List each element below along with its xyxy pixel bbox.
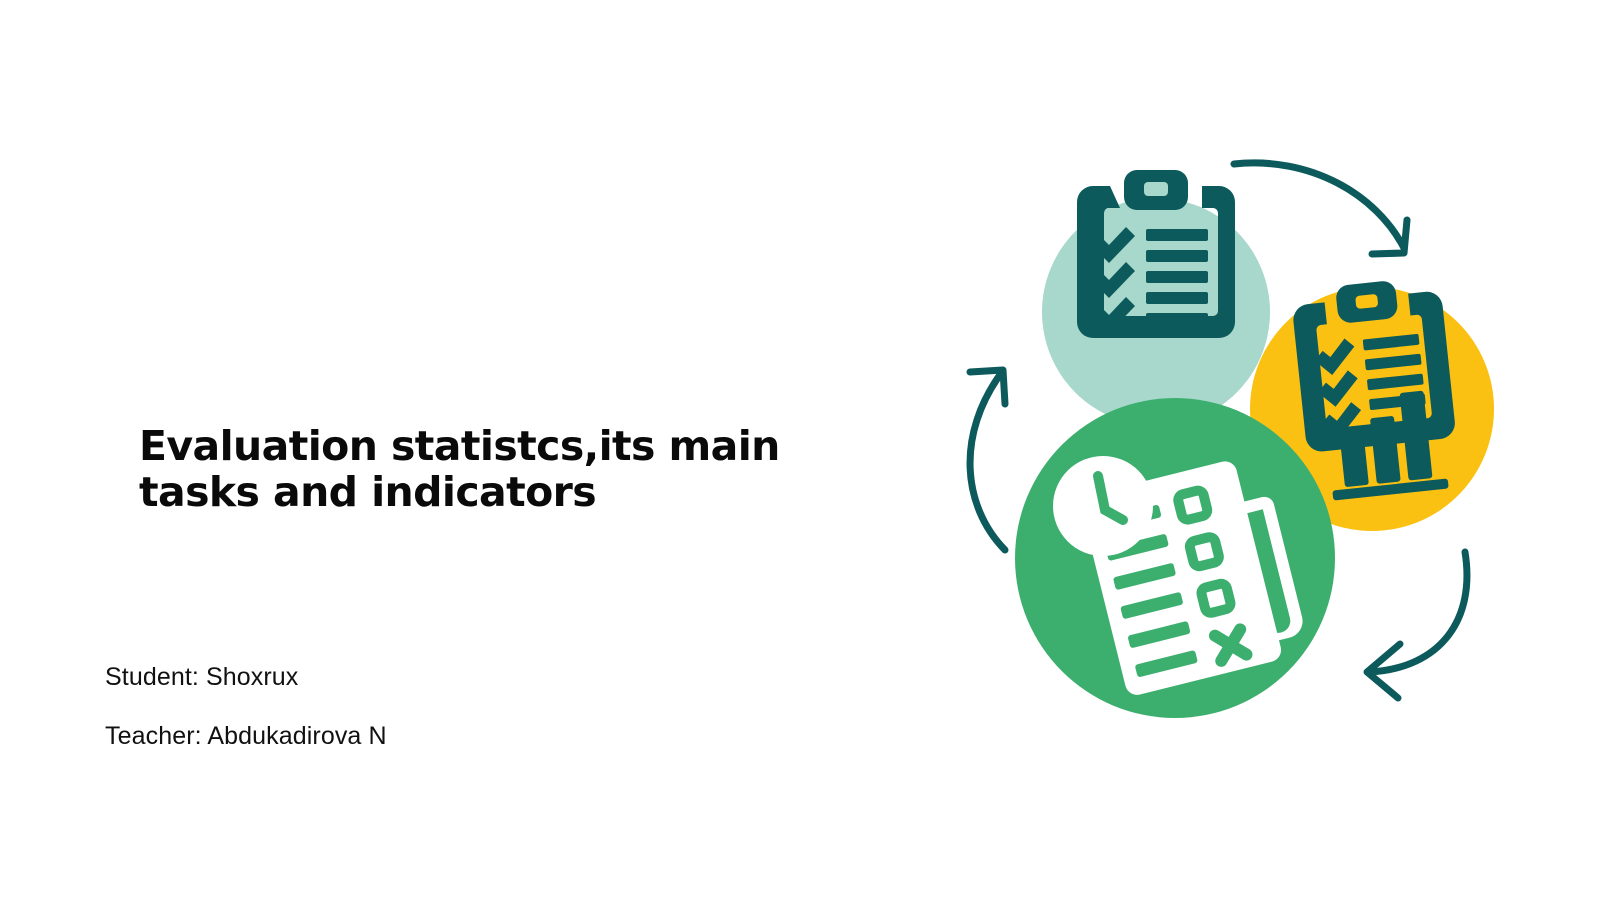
page-title: Evaluation statistcs,its main tasks and … xyxy=(139,424,819,516)
student-line: Student: Shoxrux xyxy=(105,663,298,692)
slide-canvas: Evaluation statistcs,its main tasks and … xyxy=(0,0,1600,900)
evaluation-statistics-cycle-illustration xyxy=(920,120,1540,760)
green-circle xyxy=(1015,398,1335,718)
mint-circle xyxy=(1042,170,1270,426)
arrow-left xyxy=(970,370,1005,550)
text-column: Evaluation statistcs,its main tasks and … xyxy=(105,0,865,900)
teacher-line: Teacher: Abdukadirova N xyxy=(105,722,387,751)
arrow-top-right xyxy=(1234,163,1407,254)
arrow-bottom-right xyxy=(1367,552,1467,698)
